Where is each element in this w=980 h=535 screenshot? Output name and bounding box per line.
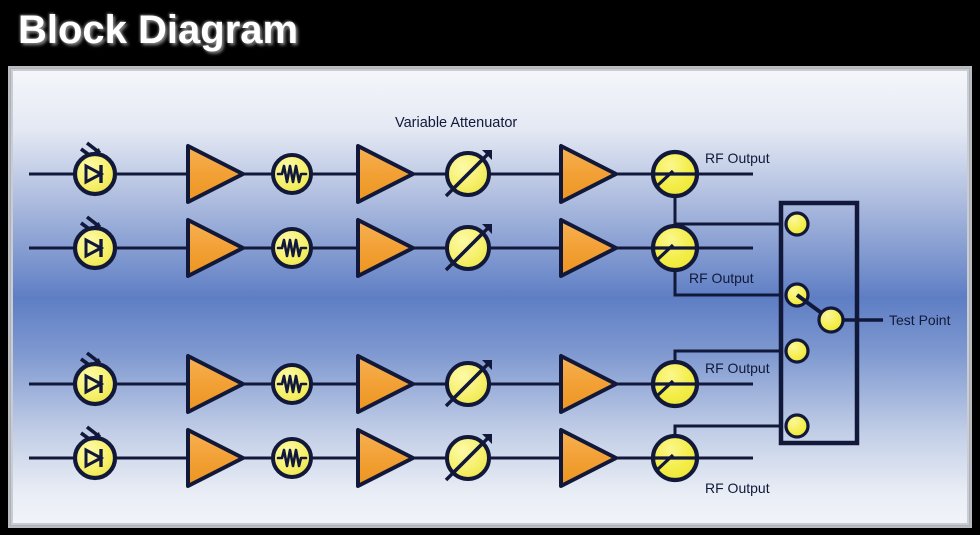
coupler-1[interactable]	[653, 152, 697, 196]
photodiode-3[interactable]	[75, 364, 115, 404]
photodiode-4[interactable]	[75, 438, 115, 478]
diagram-frame: RF Output	[8, 66, 972, 528]
variable-attenuator-4[interactable]	[446, 434, 492, 480]
rf-output-label-4: RF Output	[705, 480, 770, 496]
diagram-canvas-border: RF Output	[10, 68, 970, 526]
variable-attenuator-2[interactable]	[446, 224, 492, 270]
rf-output-label-1: RF Output	[705, 150, 770, 166]
filter-3[interactable]	[273, 365, 311, 403]
coupler-3[interactable]	[653, 362, 697, 406]
switch-contact-3[interactable]	[786, 340, 808, 362]
screenshot-root: Block Diagram	[0, 0, 980, 535]
test-point-label: Test Point	[889, 312, 951, 328]
diagram-canvas: RF Output	[13, 71, 967, 523]
photodiode-1[interactable]	[75, 154, 115, 194]
switch-contact-1[interactable]	[786, 213, 808, 235]
variable-attenuator-3[interactable]	[446, 360, 492, 406]
coupler-4[interactable]	[653, 436, 697, 480]
switch-pole-dot[interactable]	[819, 308, 843, 332]
rf-output-label-2: RF Output	[689, 270, 754, 286]
rf-output-label-3: RF Output	[705, 360, 770, 376]
page-title: Block Diagram	[18, 8, 298, 53]
filter-4[interactable]	[273, 439, 311, 477]
coupler-2[interactable]	[653, 226, 697, 270]
filter-1[interactable]	[273, 155, 311, 193]
block-diagram-svg: RF Output	[13, 71, 967, 523]
title-bar: Block Diagram	[0, 0, 980, 62]
switch-contact-4[interactable]	[786, 415, 808, 437]
filter-2[interactable]	[273, 229, 311, 267]
variable-attenuator-1[interactable]	[446, 150, 492, 196]
variable-attenuator-label: Variable Attenuator	[395, 115, 517, 131]
photodiode-2[interactable]	[75, 228, 115, 268]
